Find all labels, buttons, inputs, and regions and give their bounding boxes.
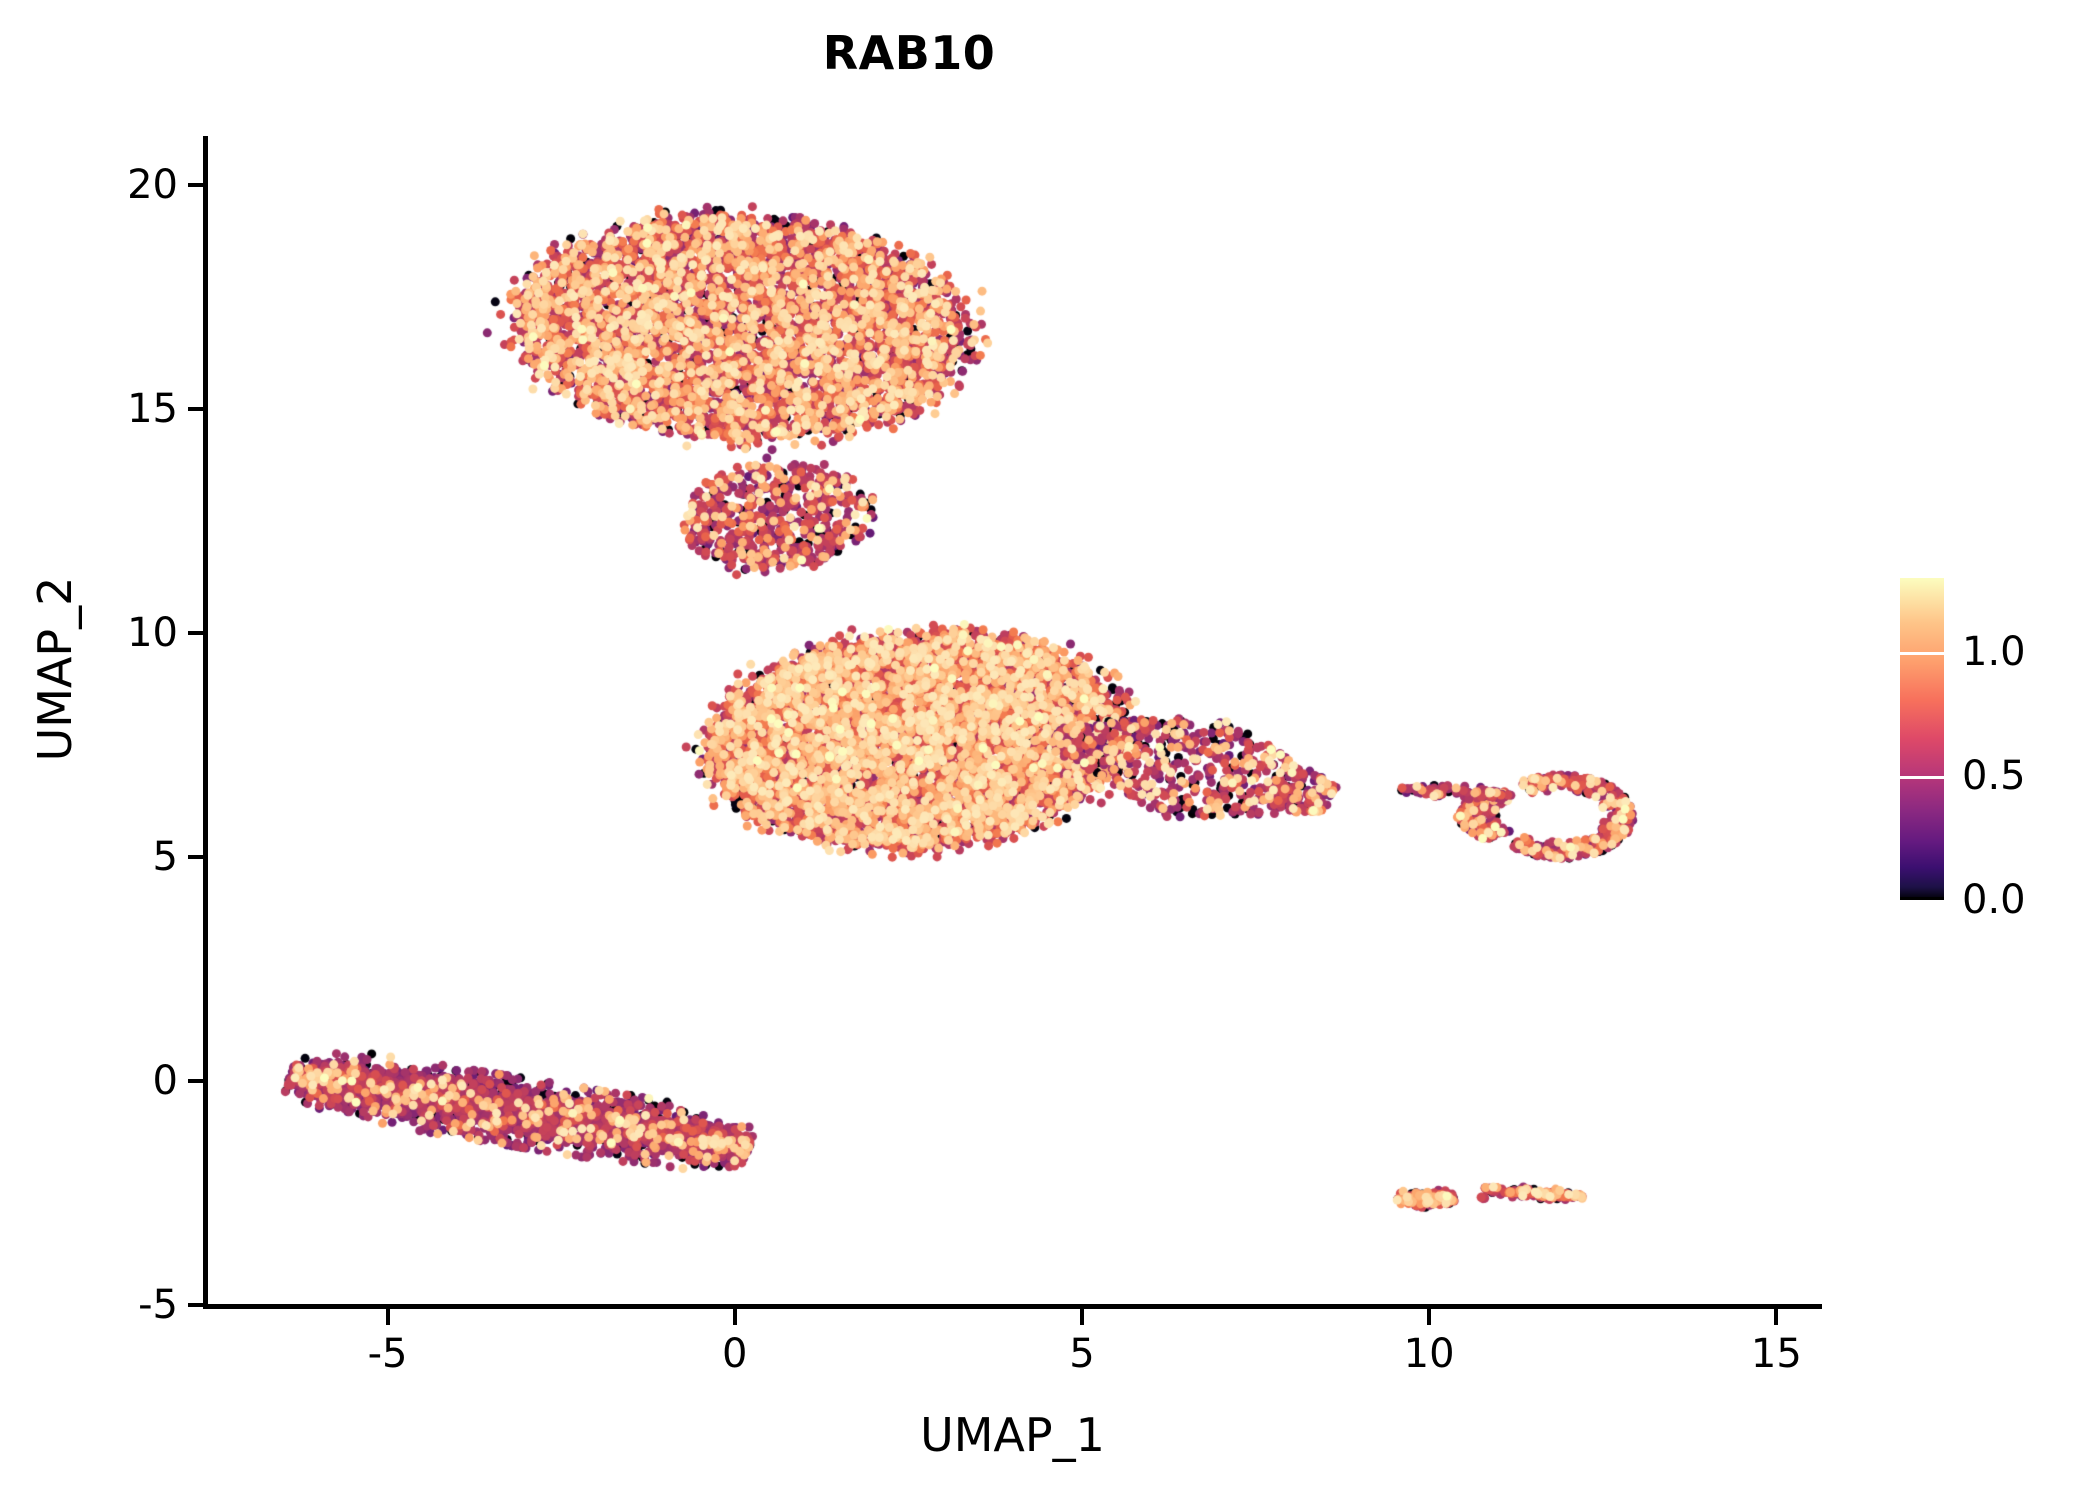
colorbar: 0.00.51.0 <box>1900 578 2070 900</box>
x-tick-label: 10 <box>1404 1331 1455 1377</box>
x-tick-mark <box>1427 1309 1431 1325</box>
x-tick-mark <box>1774 1309 1778 1325</box>
scatter-plot-area <box>207 140 1818 1305</box>
axis-spine-bottom <box>203 1304 1822 1309</box>
y-tick-label: 20 <box>127 162 178 208</box>
x-tick-mark <box>1080 1309 1084 1325</box>
y-axis-label: UMAP_2 <box>28 399 82 939</box>
x-axis-label: UMAP_1 <box>0 1408 2025 1462</box>
figure-root: RAB10 -5051015 -505101520 UMAP_1 UMAP_2 … <box>0 0 2100 1500</box>
axis-spine-left <box>203 136 208 1309</box>
y-tick-label: 15 <box>127 386 178 432</box>
colorbar-tick-mark <box>1900 897 1944 900</box>
colorbar-gradient <box>1900 578 1944 900</box>
scatter-canvas <box>207 140 1818 1305</box>
y-tick-label: 10 <box>127 610 178 656</box>
y-tick-label: 0 <box>153 1058 178 1104</box>
y-tick-mark <box>188 407 204 411</box>
y-tick-mark <box>188 631 204 635</box>
y-tick-mark <box>188 183 204 187</box>
x-tick-mark <box>386 1309 390 1325</box>
colorbar-tick-mark <box>1900 776 1944 779</box>
y-tick-label: -5 <box>138 1282 178 1328</box>
x-tick-label: 0 <box>722 1331 747 1377</box>
colorbar-tick-label: 0.0 <box>1962 877 2026 923</box>
x-tick-label: 5 <box>1069 1331 1094 1377</box>
page-title: RAB10 <box>0 26 1818 80</box>
colorbar-tick-label: 0.5 <box>1962 753 2026 799</box>
y-tick-mark <box>188 855 204 859</box>
y-tick-mark <box>188 1079 204 1083</box>
x-tick-mark <box>733 1309 737 1325</box>
y-tick-mark <box>188 1303 204 1307</box>
x-tick-label: 15 <box>1751 1331 1802 1377</box>
y-tick-label: 5 <box>153 834 178 880</box>
colorbar-tick-label: 1.0 <box>1962 629 2026 675</box>
x-tick-label: -5 <box>368 1331 408 1377</box>
colorbar-tick-mark <box>1900 652 1944 655</box>
